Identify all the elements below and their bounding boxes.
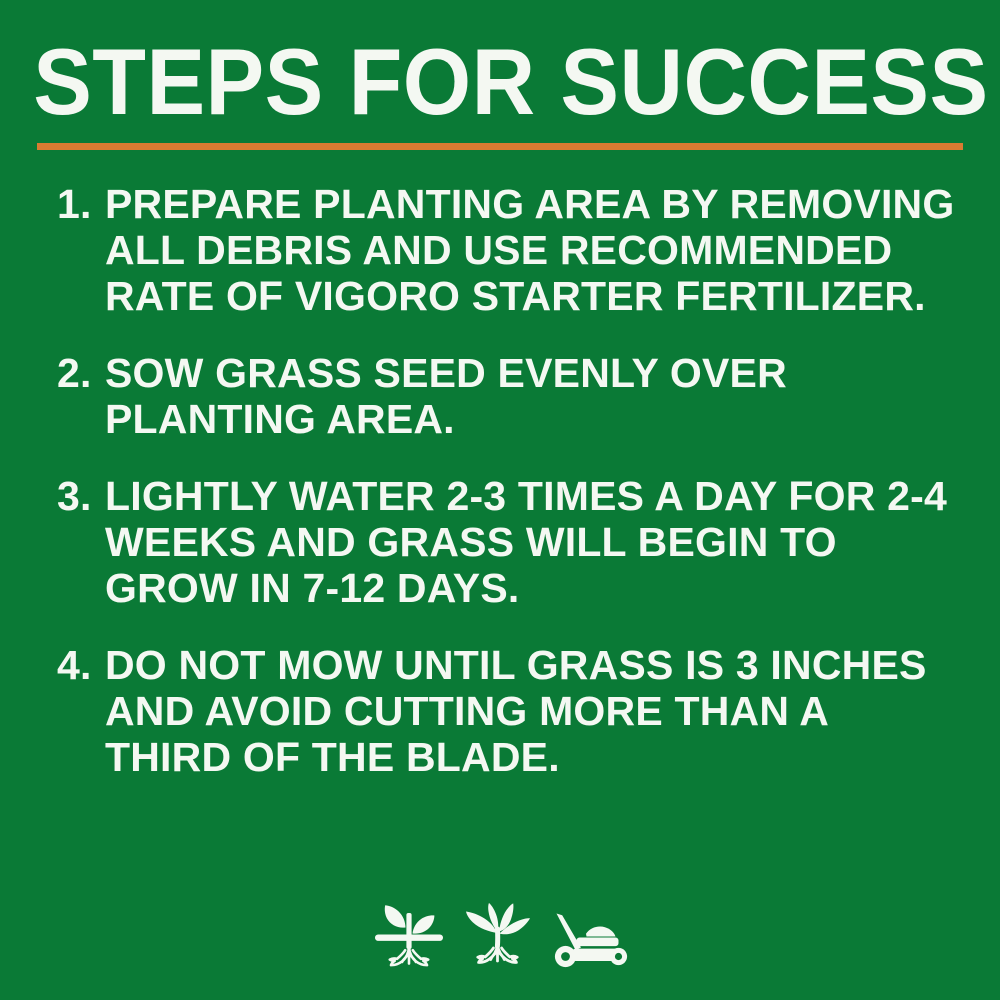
step-text: SOW GRASS SEED EVENLY OVER PLANTING AREA… xyxy=(105,350,957,442)
list-item: 2. SOW GRASS SEED EVENLY OVER PLANTING A… xyxy=(57,350,957,442)
step-number: 4. xyxy=(57,642,101,688)
step-number: 2. xyxy=(57,350,101,396)
step-text: LIGHTLY WATER 2-3 TIMES A DAY FOR 2-4 WE… xyxy=(105,473,957,611)
list-item: 3. LIGHTLY WATER 2-3 TIMES A DAY FOR 2-4… xyxy=(57,473,957,611)
footer-icon-row xyxy=(0,893,1000,969)
step-text: PREPARE PLANTING AREA BY REMOVING ALL DE… xyxy=(105,181,957,319)
list-item: 4. DO NOT MOW UNTIL GRASS IS 3 INCHES AN… xyxy=(57,642,957,780)
grass-sprout-roots-icon xyxy=(464,903,532,969)
lawn-mower-icon xyxy=(550,913,628,969)
step-number: 1. xyxy=(57,181,101,227)
list-item: 1. PREPARE PLANTING AREA BY REMOVING ALL… xyxy=(57,181,957,319)
steps-list: 1. PREPARE PLANTING AREA BY REMOVING ALL… xyxy=(57,181,957,780)
step-number: 3. xyxy=(57,473,101,519)
page-title: STEPS FOR SUCCESS xyxy=(33,34,988,130)
seedling-in-soil-icon xyxy=(372,903,446,969)
title-divider xyxy=(37,143,963,150)
title-block: STEPS FOR SUCCESS xyxy=(0,34,1000,130)
steps-for-success-panel: STEPS FOR SUCCESS 1. PREPARE PLANTING AR… xyxy=(0,0,1000,1000)
step-text: DO NOT MOW UNTIL GRASS IS 3 INCHES AND A… xyxy=(105,642,957,780)
